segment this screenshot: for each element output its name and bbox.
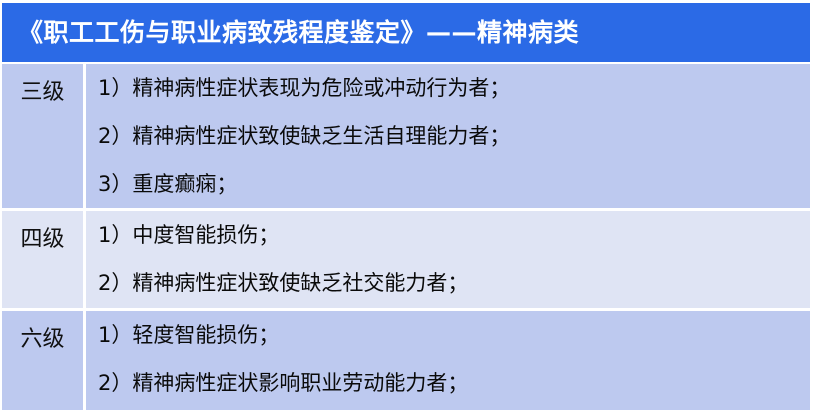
table-row: 六级 1）轻度智能损伤； 2）精神病性症状影响职业劳动能力者； bbox=[2, 311, 810, 410]
list-item: 2）精神病性症状致使缺乏社交能力者； bbox=[96, 273, 810, 294]
criteria-cell: 1）精神病性症状表现为危险或冲动行为者； 2）精神病性症状致使缺乏生活自理能力者… bbox=[86, 64, 810, 208]
criteria-cell: 1）轻度智能损伤； 2）精神病性症状影响职业劳动能力者； bbox=[86, 311, 810, 410]
grade-cell: 三级 bbox=[2, 64, 86, 208]
grade-label: 三级 bbox=[20, 82, 64, 104]
table-row: 四级 1）中度智能损伤； 2）精神病性症状致使缺乏社交能力者； bbox=[2, 211, 810, 311]
list-item: 1）中度智能损伤； bbox=[96, 225, 810, 246]
grade-cell: 四级 bbox=[2, 211, 86, 308]
grade-label: 四级 bbox=[20, 229, 64, 251]
title-banner: 《职工工伤与职业病致残程度鉴定》——精神病类 bbox=[2, 3, 810, 62]
list-item: 1）精神病性症状表现为危险或冲动行为者； bbox=[96, 78, 810, 99]
list-item: 2）精神病性症状致使缺乏生活自理能力者； bbox=[96, 126, 810, 147]
grade-cell: 六级 bbox=[2, 311, 86, 410]
list-item: 3）重度癫痫； bbox=[96, 174, 810, 195]
page-title: 《职工工伤与职业病致残程度鉴定》——精神病类 bbox=[2, 20, 579, 45]
disability-grade-table: 三级 1）精神病性症状表现为危险或冲动行为者； 2）精神病性症状致使缺乏生活自理… bbox=[2, 64, 810, 410]
slide-canvas: 《职工工伤与职业病致残程度鉴定》——精神病类 三级 1）精神病性症状表现为危险或… bbox=[0, 0, 814, 410]
table-row: 三级 1）精神病性症状表现为危险或冲动行为者； 2）精神病性症状致使缺乏生活自理… bbox=[2, 64, 810, 211]
list-item: 1）轻度智能损伤； bbox=[96, 325, 810, 346]
grade-label: 六级 bbox=[20, 329, 64, 351]
criteria-cell: 1）中度智能损伤； 2）精神病性症状致使缺乏社交能力者； bbox=[86, 211, 810, 308]
list-item: 2）精神病性症状影响职业劳动能力者； bbox=[96, 373, 810, 394]
